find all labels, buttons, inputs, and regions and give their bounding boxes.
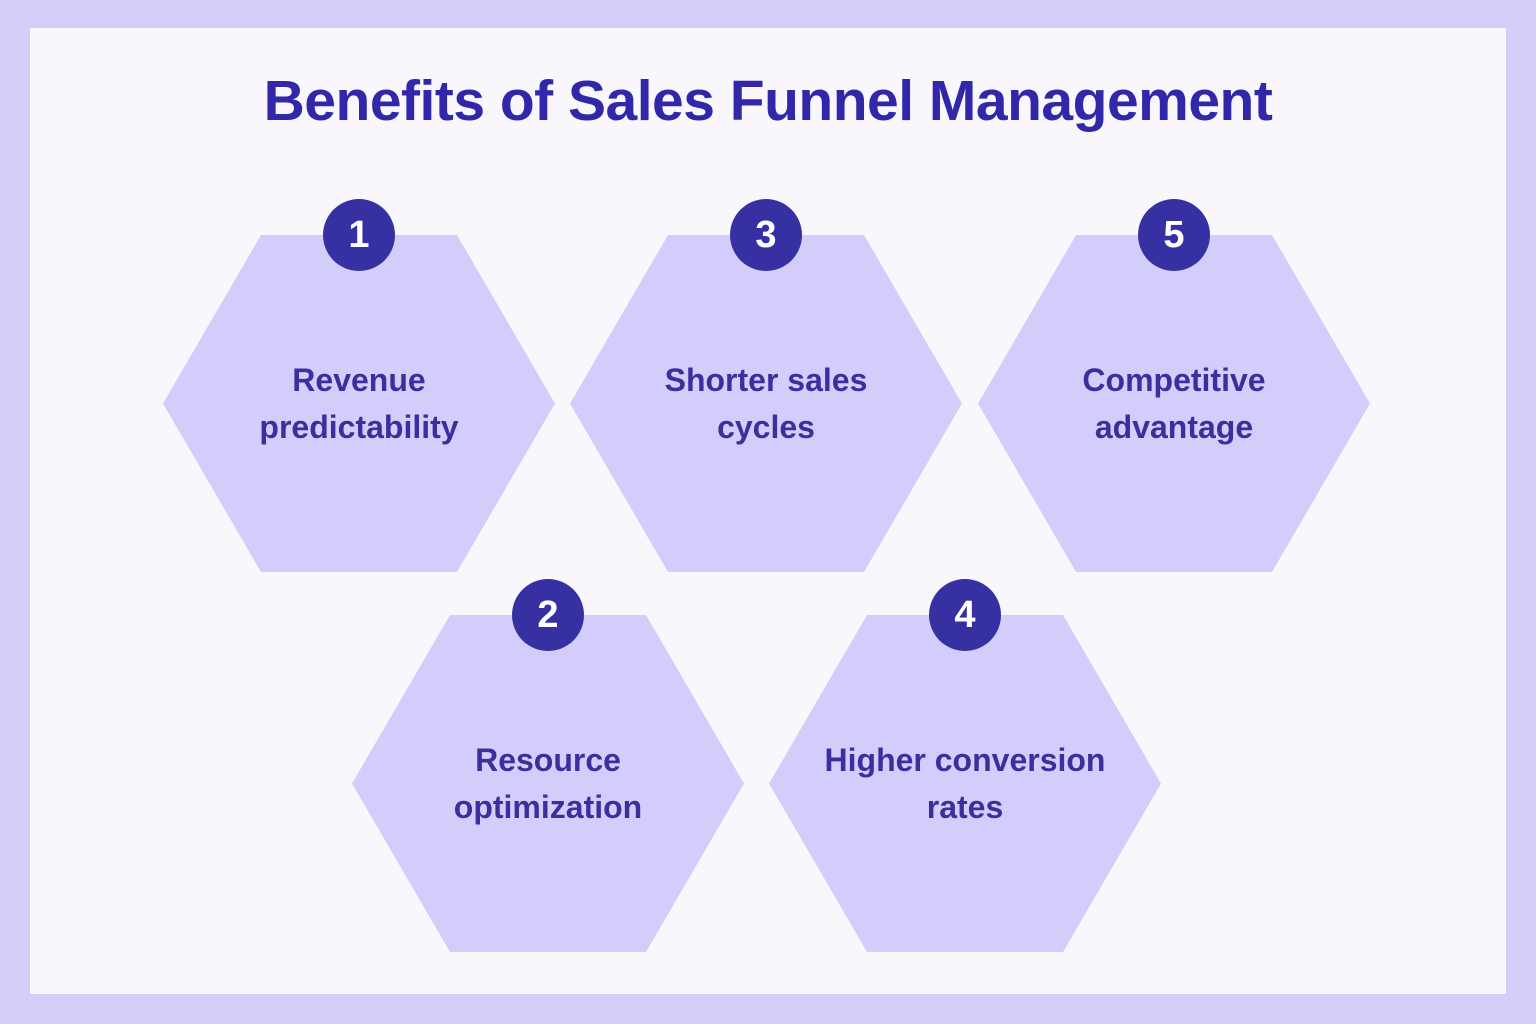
benefit-hexagon-1[interactable]: Revenue predictability 1 [163, 235, 555, 572]
infographic-canvas: Benefits of Sales Funnel Management Reve… [0, 0, 1536, 1024]
benefit-hexagon-5[interactable]: Competitive advantage 5 [978, 235, 1370, 572]
benefit-hexagon-4[interactable]: Higher conversion rates 4 [769, 615, 1161, 952]
benefit-hexagon-3[interactable]: Shorter sales cycles 3 [570, 235, 962, 572]
hexagon-shape [769, 615, 1161, 952]
benefit-number-badge: 3 [730, 199, 802, 271]
benefit-number-badge: 4 [929, 579, 1001, 651]
benefit-number-badge: 1 [323, 199, 395, 271]
hexagon-shape [570, 235, 962, 572]
benefit-number-badge: 2 [512, 579, 584, 651]
hexagon-shape [163, 235, 555, 572]
hexagon-shape [978, 235, 1370, 572]
hexagon-shape [352, 615, 744, 952]
benefit-hexagon-2[interactable]: Resource optimization 2 [352, 615, 744, 952]
benefit-number-badge: 5 [1138, 199, 1210, 271]
page-title: Benefits of Sales Funnel Management [0, 68, 1536, 134]
